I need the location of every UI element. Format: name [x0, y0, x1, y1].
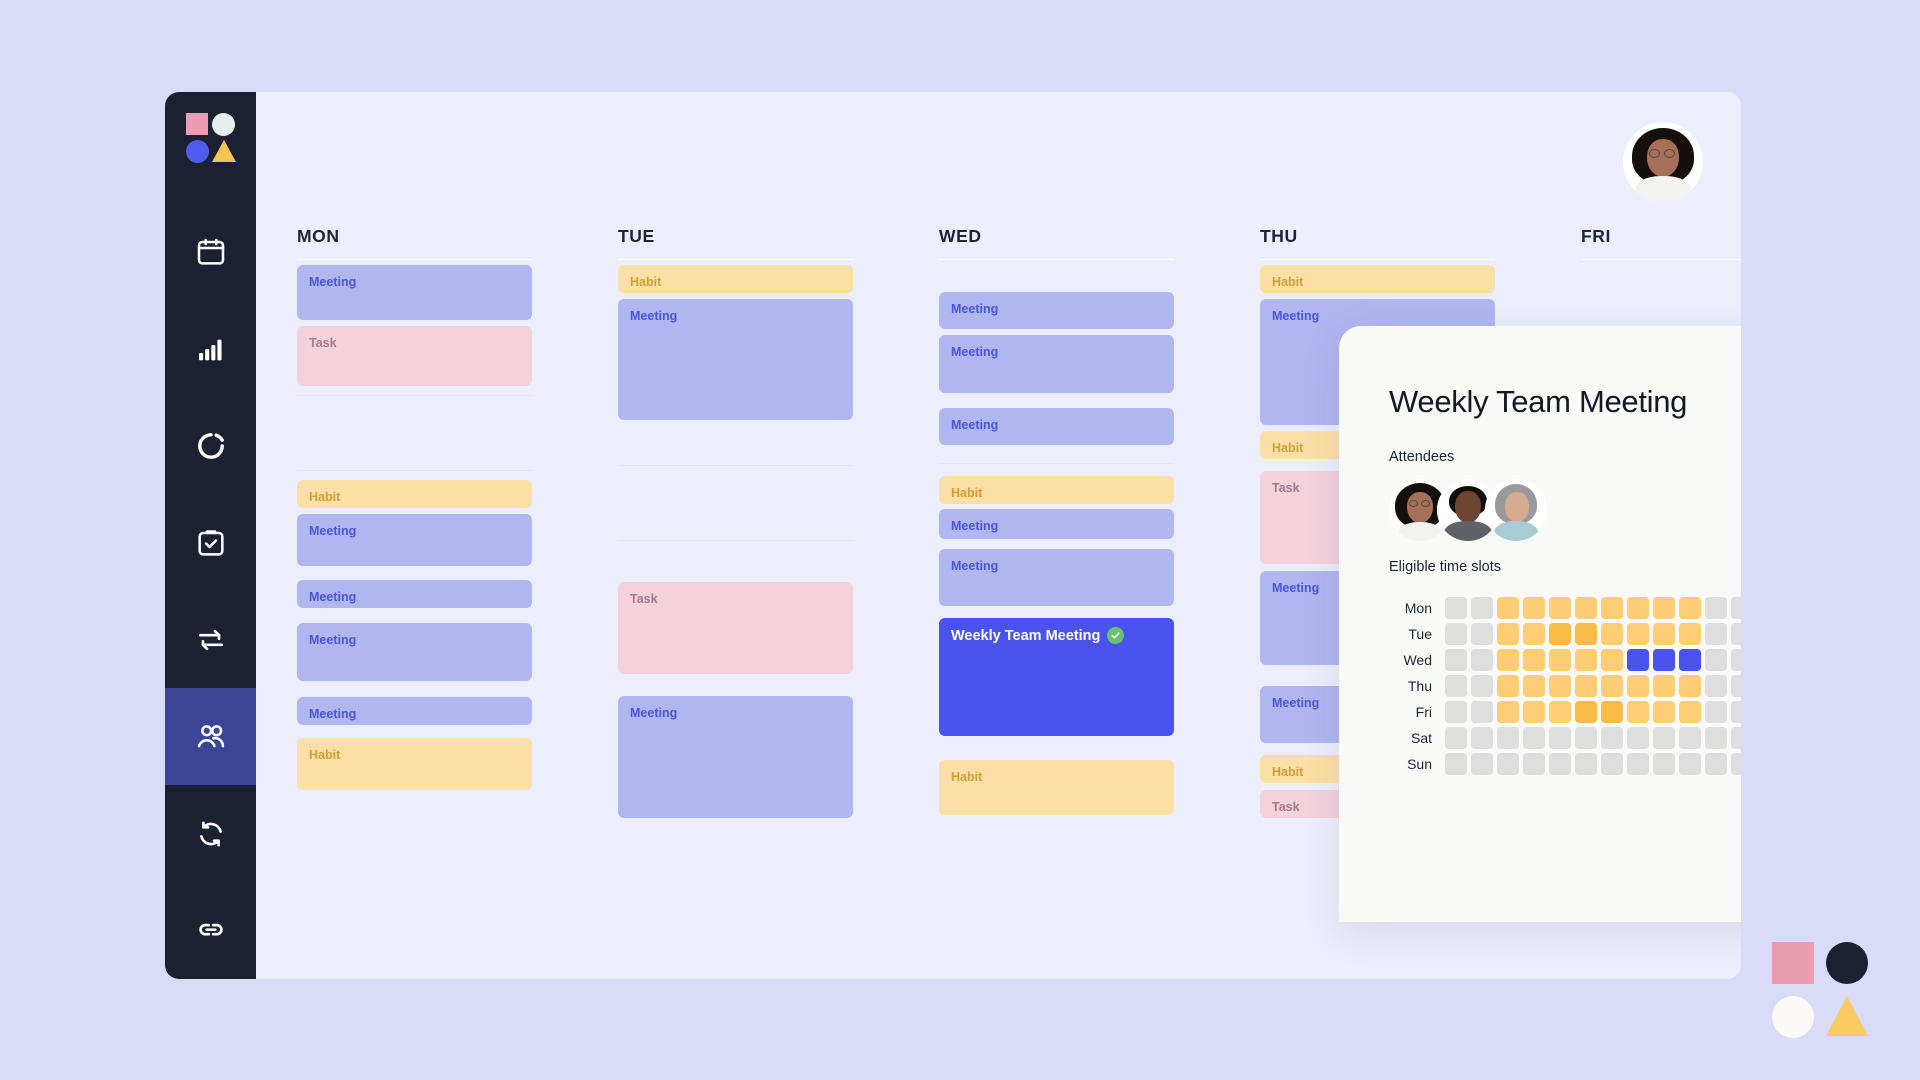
refresh-icon	[195, 818, 227, 850]
logo-circle-icon	[212, 113, 235, 136]
heatmap-cell-off[interactable]	[1601, 753, 1623, 775]
event-label: Meeting	[951, 559, 998, 573]
event-label: Meeting	[309, 524, 356, 538]
event-label: Habit	[1272, 765, 1303, 779]
heatmap-cell-off[interactable]	[1731, 727, 1741, 749]
heatmap-cell-off[interactable]	[1705, 727, 1727, 749]
heatmap-cell-off[interactable]	[1705, 597, 1727, 619]
day-header: THU	[1260, 226, 1540, 259]
event-label: Task	[1272, 800, 1300, 814]
heatmap-row: Sun	[1389, 753, 1741, 775]
heatmap-cell-off[interactable]	[1445, 675, 1467, 697]
decorative-shapes	[1772, 942, 1868, 1038]
heatmap-cell-low[interactable]	[1523, 597, 1545, 619]
eligible-time-slots-label: Eligible time slots	[1389, 559, 1741, 575]
hour-divider	[939, 463, 1174, 464]
heatmap-cell-off[interactable]	[1653, 753, 1675, 775]
deco-triangle-icon	[1826, 996, 1868, 1036]
bar-chart-icon	[195, 333, 227, 365]
heatmap-cell-low[interactable]	[1679, 597, 1701, 619]
heatmap-cell-off[interactable]	[1471, 623, 1493, 645]
heatmap-cell-low[interactable]	[1575, 649, 1597, 671]
heatmap-cell-low[interactable]	[1523, 649, 1545, 671]
heatmap-row-label: Sat	[1389, 730, 1441, 746]
event-habit[interactable]: Habit	[939, 476, 1174, 504]
heatmap-row: Sat	[1389, 727, 1741, 749]
event-meeting[interactable]: Meeting	[618, 696, 853, 818]
event-label: Meeting	[951, 302, 998, 316]
day-divider	[1260, 259, 1495, 260]
heatmap-cell-low[interactable]	[1549, 701, 1571, 723]
calendar-icon	[195, 236, 227, 268]
event-label: Meeting	[309, 633, 356, 647]
sidebar-item-tasks[interactable]	[165, 494, 256, 591]
heatmap-cell-low[interactable]	[1601, 623, 1623, 645]
heatmap-cell-off[interactable]	[1445, 727, 1467, 749]
day-column-mon: MONMeetingTaskHabitMeetingMeetingMeeting…	[297, 226, 577, 979]
heatmap-cell-picked[interactable]	[1679, 649, 1701, 671]
event-selected[interactable]: Weekly Team Meeting	[939, 618, 1174, 736]
availability-heatmap: MonTueWedThuFriSatSun	[1389, 597, 1741, 775]
heatmap-cell-low[interactable]	[1653, 623, 1675, 645]
heatmap-cell-off[interactable]	[1497, 727, 1519, 749]
heatmap-cell-high[interactable]	[1601, 701, 1623, 723]
heatmap-cell-off[interactable]	[1471, 753, 1493, 775]
heatmap-cell-off[interactable]	[1549, 753, 1571, 775]
attendee-list	[1389, 479, 1741, 541]
heatmap-cell-off[interactable]	[1445, 649, 1467, 671]
app-card: MONMeetingTaskHabitMeetingMeetingMeeting…	[165, 92, 1741, 979]
heatmap-cell-off[interactable]	[1731, 675, 1741, 697]
heatmap-cell-low[interactable]	[1575, 597, 1597, 619]
heatmap-row-label: Wed	[1389, 652, 1441, 668]
heatmap-cell-off[interactable]	[1497, 753, 1519, 775]
event-label: Habit	[630, 275, 661, 289]
event-label: Habit	[309, 490, 340, 504]
heatmap-cell-off[interactable]	[1445, 597, 1467, 619]
heatmap-cell-off[interactable]	[1705, 649, 1727, 671]
attendee-avatar[interactable]	[1485, 479, 1547, 541]
heatmap-row-label: Fri	[1389, 704, 1441, 720]
heatmap-cell-low[interactable]	[1523, 623, 1545, 645]
event-meeting[interactable]: Meeting	[618, 299, 853, 420]
deco-circle-white-icon	[1772, 996, 1814, 1038]
event-meeting[interactable]: Meeting	[297, 514, 532, 566]
heatmap-cell-off[interactable]	[1471, 727, 1493, 749]
heatmap-cell-off[interactable]	[1471, 675, 1493, 697]
heatmap-row: Wed	[1389, 649, 1741, 671]
event-label: Task	[630, 592, 658, 606]
heatmap-cell-low[interactable]	[1549, 649, 1571, 671]
heatmap-cell-off[interactable]	[1731, 597, 1741, 619]
heatmap-cell-off[interactable]	[1575, 727, 1597, 749]
event-meeting[interactable]: Meeting	[939, 292, 1174, 329]
event-label: Habit	[951, 486, 982, 500]
sidebar-item-links[interactable]	[165, 882, 256, 979]
heatmap-cell-low[interactable]	[1627, 701, 1649, 723]
event-habit[interactable]: Habit	[939, 760, 1174, 815]
event-label: Meeting	[1272, 309, 1319, 323]
heatmap-cell-off[interactable]	[1705, 753, 1727, 775]
day-divider	[297, 259, 532, 260]
heatmap-row-label: Thu	[1389, 678, 1441, 694]
clipboard-check-icon	[195, 527, 227, 559]
heatmap-cell-low[interactable]	[1627, 597, 1649, 619]
sidebar-nav	[165, 203, 256, 979]
heatmap-cell-off[interactable]	[1705, 675, 1727, 697]
event-label: Meeting	[951, 345, 998, 359]
event-label: Meeting	[630, 309, 677, 323]
heatmap-row: Thu	[1389, 675, 1741, 697]
logo-square-icon	[186, 113, 208, 135]
heatmap-cell-high[interactable]	[1549, 623, 1571, 645]
heatmap-cell-off[interactable]	[1627, 727, 1649, 749]
main-content: MONMeetingTaskHabitMeetingMeetingMeeting…	[256, 92, 1741, 979]
event-label: Meeting	[309, 275, 356, 289]
sidebar-item-progress[interactable]	[165, 397, 256, 494]
event-label: Habit	[309, 748, 340, 762]
day-divider	[618, 259, 853, 260]
heatmap-cell-low[interactable]	[1653, 597, 1675, 619]
heatmap-cell-low[interactable]	[1523, 701, 1545, 723]
heatmap-cell-low[interactable]	[1627, 623, 1649, 645]
deco-square-icon	[1772, 942, 1814, 984]
heatmap-cell-off[interactable]	[1523, 727, 1545, 749]
event-label: Meeting	[951, 519, 998, 533]
heatmap-cell-off[interactable]	[1445, 701, 1467, 723]
donut-icon	[195, 430, 227, 462]
event-label: Meeting	[1272, 581, 1319, 595]
heatmap-row: Fri	[1389, 701, 1741, 723]
heatmap-cell-off[interactable]	[1679, 727, 1701, 749]
event-habit[interactable]: Habit	[618, 265, 853, 293]
event-label: Habit	[951, 770, 982, 784]
heatmap-cell-low[interactable]	[1679, 675, 1701, 697]
check-badge-icon	[1107, 627, 1124, 644]
heatmap-cell-high[interactable]	[1575, 623, 1597, 645]
day-header: FRI	[1581, 226, 1741, 259]
heatmap-cell-off[interactable]	[1445, 623, 1467, 645]
heatmap-cell-off[interactable]	[1731, 701, 1741, 723]
sidebar	[165, 92, 256, 979]
hour-divider	[297, 395, 532, 396]
event-label: Meeting	[1272, 696, 1319, 710]
sidebar-item-calendar[interactable]	[165, 203, 256, 300]
heatmap-cell-low[interactable]	[1497, 597, 1519, 619]
logo-triangle-icon	[212, 140, 236, 162]
event-meeting[interactable]: Meeting	[939, 549, 1174, 606]
repeat-icon	[195, 624, 227, 656]
page-title: Weekly Team Meeting	[1389, 384, 1741, 420]
event-meeting[interactable]: Meeting	[939, 335, 1174, 393]
heatmap-cell-off[interactable]	[1627, 753, 1649, 775]
event-task[interactable]: Task	[297, 326, 532, 386]
heatmap-cell-picked[interactable]	[1627, 649, 1649, 671]
event-habit[interactable]: Habit	[297, 480, 532, 508]
heatmap-cell-low[interactable]	[1627, 675, 1649, 697]
heatmap-cell-off[interactable]	[1705, 623, 1727, 645]
app-logo[interactable]	[186, 113, 236, 151]
heatmap-cell-low[interactable]	[1601, 675, 1623, 697]
day-divider	[939, 259, 1174, 260]
heatmap-cell-low[interactable]	[1497, 623, 1519, 645]
attendees-label: Attendees	[1389, 449, 1741, 465]
heatmap-cell-off[interactable]	[1679, 753, 1701, 775]
logo-dot-icon	[186, 140, 209, 163]
event-label: Meeting	[951, 418, 998, 432]
heatmap-cell-low[interactable]	[1549, 597, 1571, 619]
heatmap-cell-low[interactable]	[1575, 675, 1597, 697]
people-icon	[194, 720, 228, 754]
heatmap-cell-off[interactable]	[1705, 701, 1727, 723]
heatmap-cell-off[interactable]	[1731, 623, 1741, 645]
event-task[interactable]: Task	[618, 582, 853, 674]
day-column-wed: WEDMeetingMeetingMeetingHabitMeetingMeet…	[939, 226, 1219, 979]
event-label: Task	[309, 336, 337, 350]
heatmap-cell-low[interactable]	[1497, 649, 1519, 671]
day-divider	[1581, 259, 1741, 260]
heatmap-cell-low[interactable]	[1679, 701, 1701, 723]
heatmap-cell-off[interactable]	[1471, 649, 1493, 671]
hour-divider	[618, 465, 853, 466]
link-icon	[195, 915, 227, 947]
event-label: Habit	[1272, 441, 1303, 455]
event-habit[interactable]: Habit	[1260, 265, 1495, 293]
heatmap-cell-high[interactable]	[1575, 701, 1597, 723]
heatmap-cell-off[interactable]	[1549, 727, 1571, 749]
heatmap-cell-off[interactable]	[1445, 753, 1467, 775]
deco-circle-dark-icon	[1826, 942, 1868, 984]
event-meeting[interactable]: Meeting	[297, 697, 532, 725]
day-header: TUE	[618, 226, 898, 259]
attendee-3-photo	[1485, 479, 1547, 541]
sidebar-item-recurring[interactable]	[165, 591, 256, 688]
heatmap-cell-off[interactable]	[1523, 753, 1545, 775]
heatmap-cell-low[interactable]	[1601, 597, 1623, 619]
event-label: Meeting	[630, 706, 677, 720]
heatmap-cell-off[interactable]	[1471, 597, 1493, 619]
sidebar-item-team[interactable]	[165, 688, 256, 785]
event-meeting[interactable]: Meeting	[297, 623, 532, 681]
heatmap-cell-picked[interactable]	[1653, 649, 1675, 671]
event-meeting[interactable]: Meeting	[939, 509, 1174, 539]
event-label: Habit	[1272, 275, 1303, 289]
sidebar-item-analytics[interactable]	[165, 300, 256, 397]
heatmap-cell-low[interactable]	[1497, 701, 1519, 723]
heatmap-row-label: Tue	[1389, 626, 1441, 642]
event-detail-panel: Weekly Team Meeting Attendees	[1339, 326, 1741, 922]
heatmap-row-label: Sun	[1389, 756, 1441, 772]
hour-divider	[297, 470, 532, 471]
event-meeting[interactable]: Meeting	[297, 265, 532, 320]
heatmap-cell-low[interactable]	[1653, 675, 1675, 697]
heatmap-row: Mon	[1389, 597, 1741, 619]
event-meeting[interactable]: Meeting	[939, 408, 1174, 445]
hour-divider	[618, 540, 853, 541]
event-label: Meeting	[309, 590, 356, 604]
event-habit[interactable]: Habit	[297, 738, 532, 790]
heatmap-cell-off[interactable]	[1731, 649, 1741, 671]
heatmap-cell-low[interactable]	[1497, 675, 1519, 697]
event-label: Weekly Team Meeting	[951, 628, 1100, 644]
heatmap-row-label: Mon	[1389, 600, 1441, 616]
event-label: Meeting	[309, 707, 356, 721]
heatmap-row: Tue	[1389, 623, 1741, 645]
day-column-tue: TUEHabitMeetingTaskMeeting	[618, 226, 898, 979]
heatmap-cell-off[interactable]	[1653, 727, 1675, 749]
heatmap-cell-off[interactable]	[1471, 701, 1493, 723]
sidebar-item-sync[interactable]	[165, 785, 256, 882]
heatmap-cell-low[interactable]	[1523, 675, 1545, 697]
event-meeting[interactable]: Meeting	[297, 580, 532, 608]
day-header: MON	[297, 226, 577, 259]
heatmap-cell-off[interactable]	[1731, 753, 1741, 775]
heatmap-cell-low[interactable]	[1679, 623, 1701, 645]
day-header: WED	[939, 226, 1219, 259]
heatmap-cell-low[interactable]	[1549, 675, 1571, 697]
event-label: Task	[1272, 481, 1300, 495]
heatmap-cell-low[interactable]	[1601, 649, 1623, 671]
heatmap-cell-off[interactable]	[1601, 727, 1623, 749]
heatmap-cell-low[interactable]	[1653, 701, 1675, 723]
heatmap-cell-off[interactable]	[1575, 753, 1597, 775]
